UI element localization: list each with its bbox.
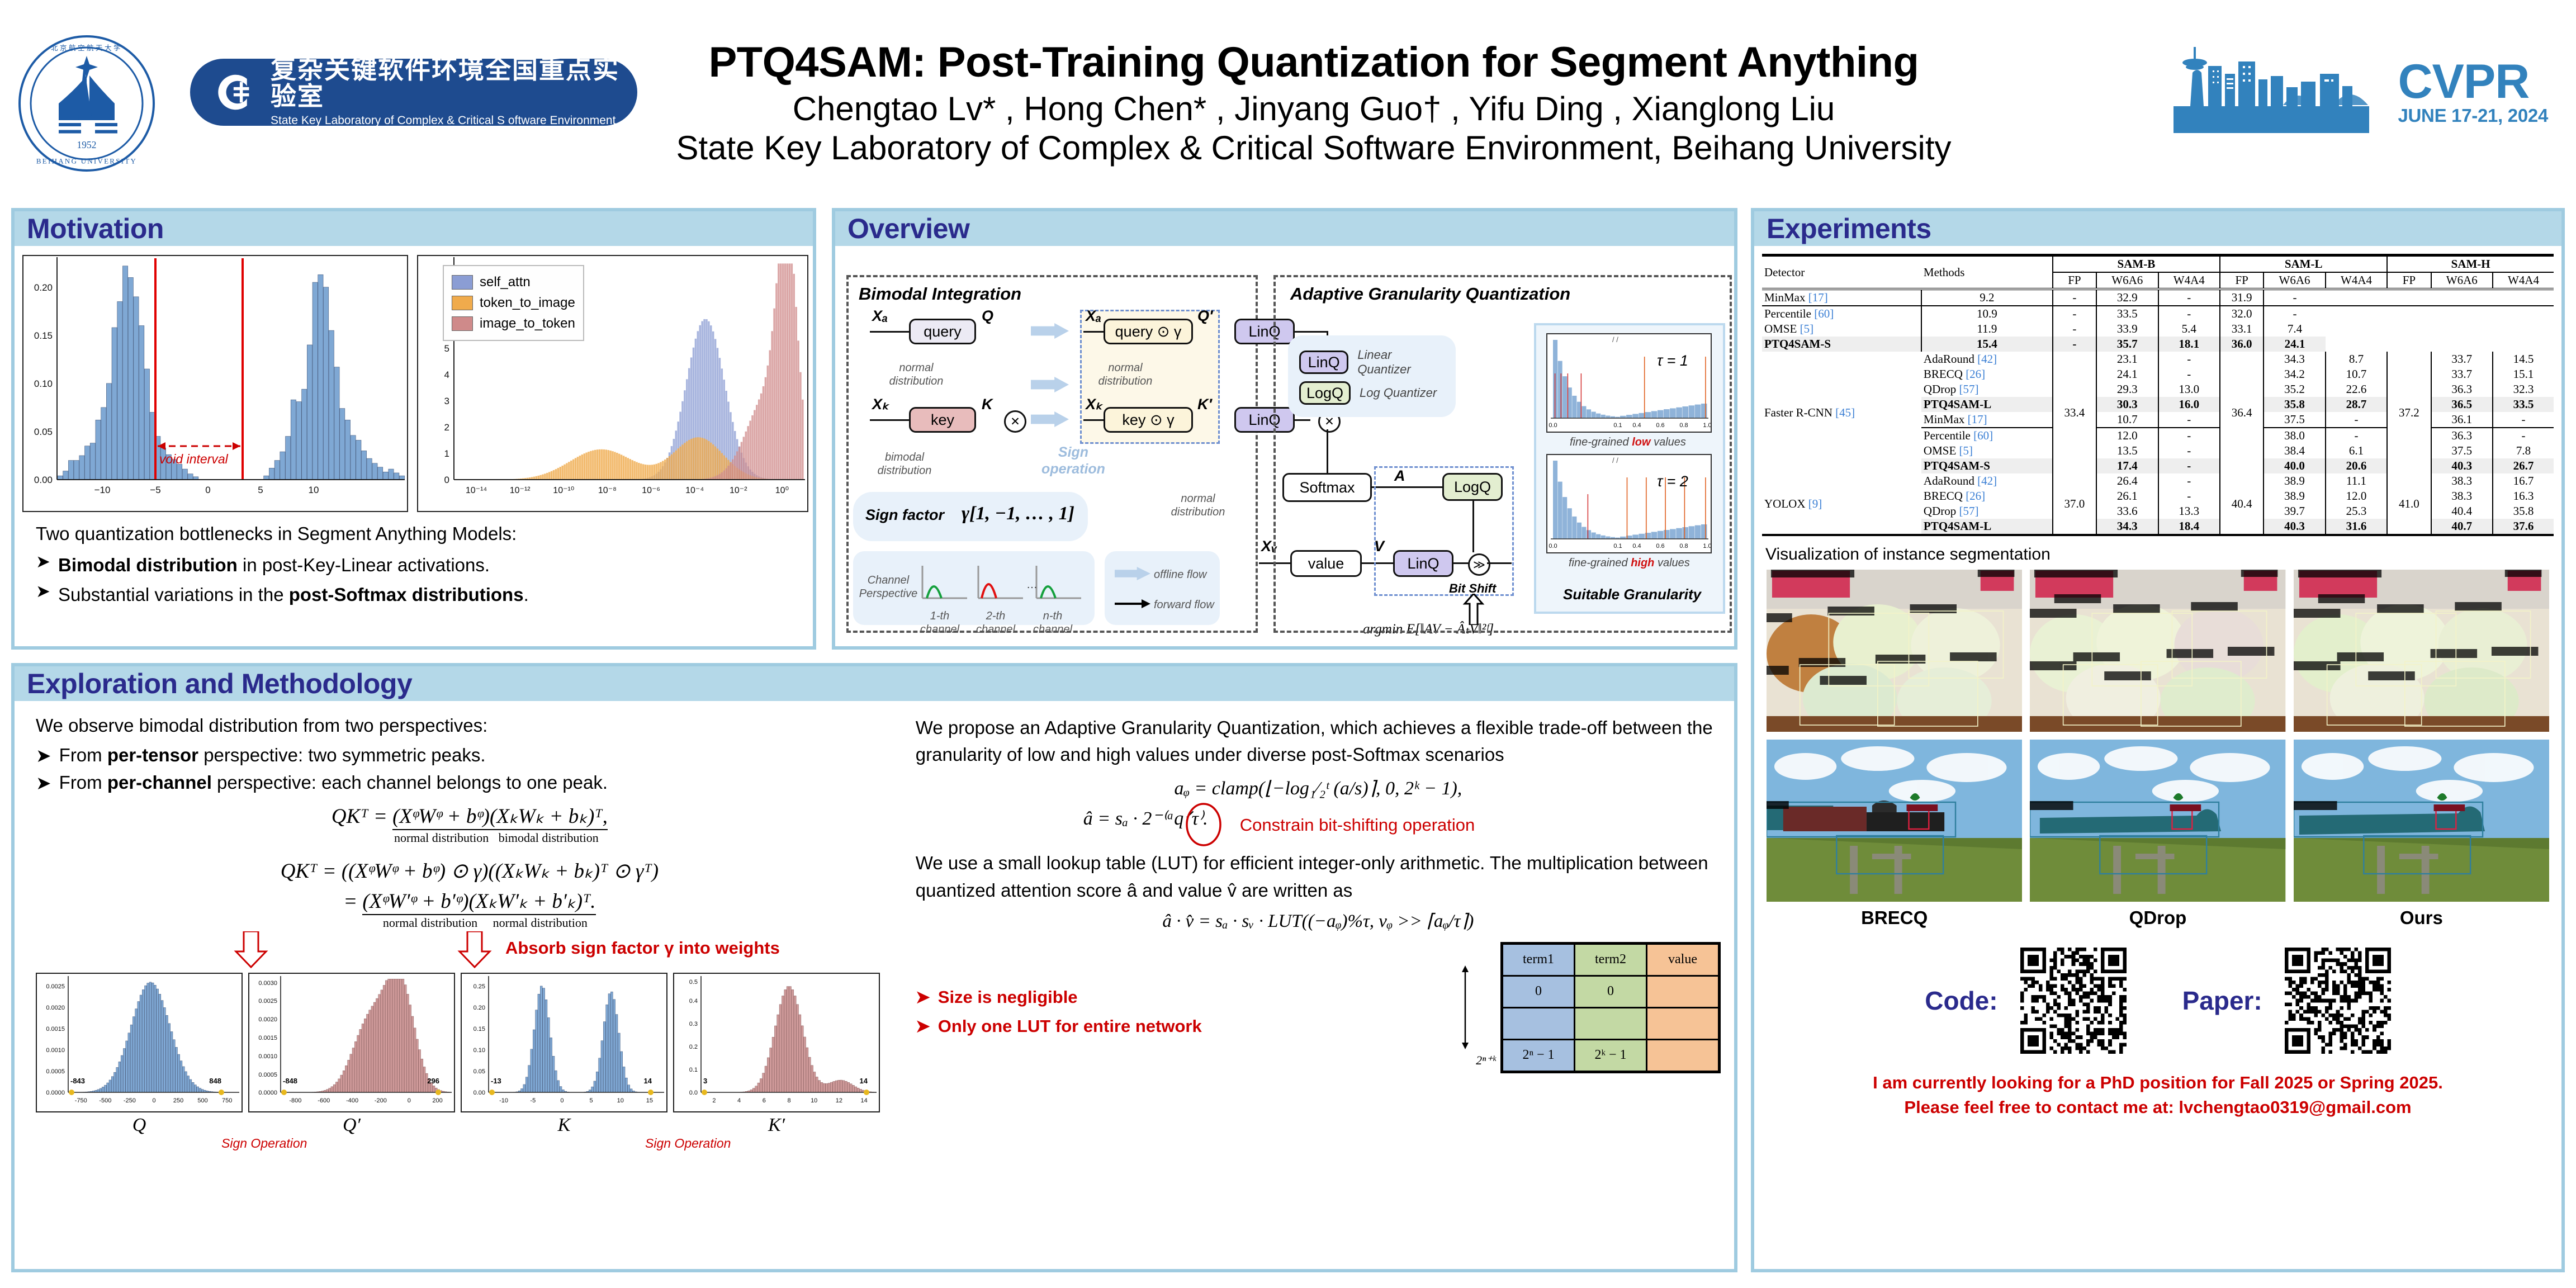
hist-Q-min: -843 (70, 1077, 85, 1085)
eb2-rest: perspective: each channel belongs to one… (212, 772, 608, 793)
svg-text:-500: -500 (99, 1097, 111, 1104)
cell-value: - (2158, 458, 2220, 473)
panel-motivation-header: Motivation (15, 211, 813, 246)
legend-label-token-to-image: token_to_image (480, 292, 575, 313)
cell-fp-SAM-L: 40.4 (2220, 473, 2264, 535)
svg-text:1.0: 1.0 (1703, 543, 1711, 550)
legend-item-logq: LogQ Log Quantizer (1299, 381, 1445, 405)
absorb-sign-factor-note: Absorb sign factor γ into weights (505, 938, 780, 958)
hist-K-min: -13 (491, 1077, 501, 1085)
signal-kprime-label: K′ (1197, 396, 1212, 413)
cell-value: - (2053, 321, 2096, 337)
svg-text:10⁻⁸: 10⁻⁸ (598, 486, 617, 495)
cell-value: 16.3 (2493, 489, 2554, 504)
caption-channel-n: n-th channel (1027, 609, 1078, 636)
eb2-pre: From (59, 772, 107, 793)
chart-granularity-tau2: 0.00.10.40.60.81.0 / / τ = 2 (1546, 454, 1712, 553)
svg-text:0.4: 0.4 (1632, 543, 1641, 550)
contact-line-2: Please feel free to contact me at: lvche… (1762, 1095, 2554, 1120)
cell-value: - (2158, 412, 2220, 428)
cell-value: 16.7 (2493, 473, 2554, 489)
visualization-captions: BRECQ QDrop Ours (1762, 907, 2554, 929)
cell-value: 33.7 (2431, 352, 2493, 367)
caption-fine-grained-high: fine-grained high values (1569, 557, 1690, 570)
viz-image-train-qdrop (2030, 740, 2285, 902)
cell-value: 30.3 (2096, 397, 2158, 412)
hist-caption-Q: Q (36, 1115, 243, 1136)
down-arrow-icon-2 (455, 931, 494, 968)
cell-value: 25.3 (2326, 504, 2388, 519)
bullet-arrow-icon: ➤ (36, 581, 50, 602)
svg-text:0.3: 0.3 (689, 1021, 698, 1027)
svg-text:0: 0 (408, 1097, 411, 1104)
eq2-under2: normal distribution (493, 916, 588, 930)
exploration-left-column: We observe bimodal distribution from two… (22, 707, 908, 1152)
svg-text:0.0010: 0.0010 (258, 1053, 277, 1060)
svg-text:8: 8 (787, 1097, 790, 1104)
svg-text:-250: -250 (124, 1097, 136, 1104)
legend-offline-flow: offline flow (1154, 568, 1221, 581)
cell-value: - (2326, 428, 2388, 443)
cell-value: 10.7 (2096, 412, 2158, 428)
svg-text:0.0015: 0.0015 (258, 1035, 277, 1041)
cell-value: 33.5 (2493, 397, 2554, 412)
qk-histograms-row: 0.00000.0005 0.00100.0015 0.00200.0025 -… (36, 973, 903, 1136)
panel-overview-header: Overview (835, 211, 1734, 246)
cell-value: - (2158, 306, 2220, 321)
bullet-arrow-icon: ➤ (36, 745, 51, 766)
svg-text:0.0000: 0.0000 (258, 1090, 277, 1096)
equation-2-underbrace-labels: normal distribution normal distribution (36, 916, 903, 930)
cell-value: 9.2 (1921, 289, 2053, 306)
hist-Q-max: 848 (209, 1077, 221, 1085)
svg-text:0.0000: 0.0000 (46, 1090, 65, 1096)
signal-k-label: K (982, 396, 993, 413)
svg-text:0.0: 0.0 (689, 1090, 698, 1096)
motivation-bullet-2-text: Substantial variations in the post-Softm… (58, 581, 529, 609)
flow-legend-pill (1105, 551, 1220, 625)
eq2-term1: (XᵠW′ᵠ + b′ᵠ) (362, 890, 468, 915)
svg-text:0: 0 (560, 1097, 563, 1104)
eq2-line-2: = (XᵠW′ᵠ + b′ᵠ)(XₖW′ₖ + b′ₖ)ᵀ. (36, 889, 903, 913)
hist-Kprime-max: 14 (860, 1077, 868, 1085)
eq1-term1: (XᵠWᵠ + bᵠ) (392, 805, 490, 830)
cell-value: 40.4 (2431, 504, 2493, 519)
cell-value: 33.6 (2096, 504, 2158, 519)
cell-fp-SAM-H: 41.0 (2387, 473, 2431, 535)
cell-value: 22.6 (2326, 382, 2388, 397)
signal-xk-label-2: Xₖ (1086, 396, 1102, 413)
cell-detector: Faster R-CNN [45] (1762, 352, 1921, 473)
lut-note-1-row: ➤ Size is negligible (916, 987, 1459, 1007)
svg-text:10: 10 (811, 1097, 817, 1104)
contact-line-1: I am currently looking for a PhD positio… (1762, 1071, 2554, 1095)
cell-method: QDrop [57] (1921, 504, 2053, 519)
svg-text:1952: 1952 (77, 139, 97, 150)
svg-text:10⁻¹²: 10⁻¹² (510, 486, 531, 495)
caption-bimodal-distribution: bimodal distribution (865, 451, 944, 477)
caption-channel-1: 1-th channel (915, 609, 965, 636)
cell-value: 36.5 (2431, 397, 2493, 412)
cell-value: 37.6 (2493, 519, 2554, 535)
panel-motivation: Motivation 0.00 (11, 208, 816, 650)
cvpr-name: CVPR (2398, 59, 2548, 105)
cell-method: AdaRound [42] (1921, 352, 2053, 367)
cell-value: - (2158, 289, 2220, 306)
results-table: Detector Methods SAM-B SAM-L SAM-H FP W6… (1762, 254, 2554, 536)
node-key: key (909, 407, 976, 433)
title-block: PTQ4SAM: Post-Training Quantization for … (643, 39, 1985, 168)
cell-value: - (2493, 412, 2554, 428)
fg-low-b: low (1632, 436, 1650, 448)
svg-text:0.0005: 0.0005 (258, 1072, 277, 1078)
chart-post-key-linear-histogram: 0.00 0.05 0.10 0.15 0.20 −10 −5 0 5 10 v (22, 255, 408, 512)
chart-hist-Qprime: 0.00000.0005 0.00100.0015 0.00200.0025 0… (248, 973, 455, 1112)
cell-value: 10.9 (1921, 306, 2053, 321)
motivation-bullet-1: ➤ Bimodal distribution in post-Key-Linea… (36, 551, 805, 579)
cell-value: 36.0 (2220, 337, 2264, 352)
svg-text:14: 14 (860, 1097, 867, 1104)
cell-value: 7.4 (2264, 321, 2326, 337)
agq-paragraph-2: We use a small lookup table (LUT) for ef… (916, 850, 1721, 903)
panel-motivation-title: Motivation (27, 212, 164, 245)
contact-block: I am currently looking for a PhD positio… (1762, 1071, 2554, 1120)
eq2-lhs: = (343, 890, 357, 913)
svg-text:0.10: 0.10 (473, 1047, 485, 1054)
visualization-grid-row2 (1762, 740, 2554, 902)
cell-value: 38.3 (2431, 489, 2493, 504)
legend-swatch-token-to-image (452, 296, 473, 310)
absorb-note-row: Absorb sign factor γ into weights (36, 930, 903, 969)
cvpr-city-label: SEATTLE, WA (2370, 124, 2485, 143)
caption-channel-perspective: Channel Perspective (858, 574, 919, 600)
svg-text:0.0005: 0.0005 (46, 1068, 65, 1075)
cell-value: 8.7 (2326, 352, 2388, 367)
panel-overview-body: Bimodal Integration Xₐ query Q normal di… (835, 246, 1734, 648)
hist-Qprime-min: -848 (283, 1077, 297, 1085)
motivation-lead: Two quantization bottlenecks in Segment … (36, 520, 805, 548)
lab-name-en: State Key Laboratory of Complex & Critic… (271, 112, 637, 129)
svg-text:0: 0 (444, 475, 449, 485)
cell-value: 14.5 (2493, 352, 2554, 367)
cell-value: - (2158, 443, 2220, 458)
equation-2: QKᵀ = ((XᵠWᵠ + bᵠ) ⊙ γ)((XₖWₖ + bₖ)ᵀ ⊙ γ… (36, 859, 903, 930)
cell-value: - (2158, 352, 2220, 367)
legend-label-self-attn: self_attn (480, 272, 531, 292)
cell-value: 6.1 (2326, 443, 2388, 458)
cell-method: PTQ4SAM-S (1762, 337, 1921, 352)
svg-text:200: 200 (432, 1097, 442, 1104)
sign-operation-label-2: Sign Operation (645, 1136, 731, 1151)
th-methods: Methods (1921, 255, 2053, 290)
lut-note-2-row: ➤ Only one LUT for entire network (916, 1016, 1459, 1036)
cell-value: - (2326, 412, 2388, 428)
motivation-bullet-1-rest: in post-Key-Linear activations. (238, 555, 490, 575)
lut-notes: ➤ Size is negligible ➤ Only one LUT for … (916, 978, 1459, 1036)
legend-logq-desc: Log Quantizer (1360, 386, 1437, 400)
cell-value: - (2053, 306, 2096, 321)
svg-text:-400: -400 (346, 1097, 358, 1104)
cell-value: 32.9 (2096, 289, 2158, 306)
hist-Kprime-min: 3 (703, 1077, 707, 1085)
lut-row: 2ⁿ − 12ᵏ − 1 (1502, 1039, 1720, 1072)
hist-group-K: 0.000.05 0.100.15 0.200.25 -10-5051015 -… (461, 973, 667, 1136)
cell-value: 33.5 (2096, 306, 2158, 321)
sign-factor-vector: γ[1, −1, … , 1] (962, 503, 1074, 524)
cell-method: BRECQ [26] (1921, 489, 2053, 504)
cell-method: QDrop [57] (1921, 382, 2053, 397)
signal-q-label: Q (982, 307, 993, 325)
motivation-bullet-2: ➤ Substantial variations in the post-Sof… (36, 581, 805, 609)
eb2-bold: per-channel (107, 772, 212, 793)
equation-lut: â · v̂ = sₐ · sᵥ · LUT((−aᵩ)%τ, vᵩ >> ⌈a… (916, 910, 1721, 932)
hist-Qprime-max: 296 (427, 1077, 439, 1085)
viz-caption-qdrop: QDrop (2030, 907, 2285, 929)
panel-experiments-header: Experiments (1754, 211, 2561, 246)
cell-value: 11.9 (1921, 321, 2053, 337)
viz-image-donuts-ours (2294, 570, 2549, 732)
svg-text:10⁰: 10⁰ (775, 486, 789, 495)
lut-row (1502, 1007, 1720, 1039)
lut-cell (1502, 1007, 1575, 1039)
svg-text:0.6: 0.6 (1656, 422, 1664, 429)
viz-image-donuts-qdrop (2030, 570, 2285, 732)
cell-value: 11.1 (2326, 473, 2388, 489)
cell-value: 13.0 (2158, 382, 2220, 397)
cvpr-logo: SEATTLE, WA CVPR JUNE 17-21, 2024 (2173, 39, 2554, 145)
th-model-sam-b: SAM-B (2053, 255, 2220, 273)
svg-text:0.6: 0.6 (1656, 543, 1664, 550)
cell-value: - (2264, 289, 2326, 306)
svg-text:10⁻⁶: 10⁻⁶ (642, 486, 660, 495)
panel-exploration-header: Exploration and Methodology (15, 666, 1734, 701)
viz-caption-ours: Ours (2294, 907, 2549, 929)
cell-value: - (2053, 337, 2096, 352)
motivation-bullet-2-bold: post-Softmax distributions (289, 584, 524, 605)
panel-exploration-title: Exploration and Methodology (27, 667, 412, 700)
chart-granularity-tau1: 0.00.10.40.60.81.0 / / τ = 1 (1546, 333, 1712, 433)
lut-row: ➤ Size is negligible ➤ Only one LUT for … (916, 942, 1721, 1073)
eq1-under1: normal distribution (394, 831, 489, 845)
cell-value: 38.3 (2431, 473, 2493, 489)
th-model-sam-h: SAM-H (2387, 255, 2554, 273)
bullet-arrow-icon: ➤ (916, 987, 930, 1007)
exploration-bullet-1: ➤ From per-tensor perspective: two symme… (36, 745, 903, 766)
down-arrow-icon-1 (231, 931, 271, 968)
viz-image-train-brecq (1767, 740, 2022, 902)
cell-value: 12.0 (2096, 428, 2158, 443)
cell-method: Percentile [60] (1921, 428, 2053, 443)
paper-qr-code[interactable] (2285, 948, 2391, 1054)
lut-cell: 2ⁿ − 1 (1502, 1039, 1575, 1072)
cell-fp-SAM-L: 36.4 (2220, 352, 2264, 473)
svg-text:-5: -5 (530, 1097, 536, 1104)
poster-root: 1952 BEIHANG UNIVERSITY 北京航空航天大学 复杂关键软件环… (0, 0, 2576, 1288)
svg-text:10⁻¹⁰: 10⁻¹⁰ (553, 486, 574, 495)
table-row: OMSE [5]11.9-33.95.433.17.4 (1762, 321, 2554, 337)
cell-value: 28.7 (2326, 397, 2388, 412)
th-detector: Detector (1762, 255, 1921, 290)
hist-caption-K: K (461, 1115, 667, 1136)
lut-note-1: Size is negligible (938, 987, 1078, 1007)
tau1-label: τ = 1 (1657, 352, 1688, 370)
sign-factor-label: Sign factor (865, 506, 944, 524)
svg-text:3: 3 (444, 396, 449, 406)
void-interval-label: void interval (159, 452, 228, 467)
cell-value: - (2158, 473, 2220, 489)
lut-table-group: 2ⁿ⁺ᵏ term1term2value002ⁿ − 12ᵏ − 1 (1459, 942, 1721, 1073)
fg-high-a: fine-grained (1569, 557, 1631, 569)
tau2-label: τ = 2 (1657, 473, 1688, 490)
signal-xk-label: Xₖ (872, 396, 889, 413)
motivation-charts: 0.00 0.05 0.10 0.15 0.20 −10 −5 0 5 10 v (22, 255, 805, 512)
cell-value: 26.1 (2096, 489, 2158, 504)
eq2-term2: (XₖW′ₖ + b′ₖ)ᵀ. (469, 890, 596, 915)
node-query: query (909, 319, 976, 344)
lut-row: 00 (1502, 976, 1720, 1007)
motivation-text: Two quantization bottlenecks in Segment … (22, 520, 805, 609)
th-bits-h-fp: FP (2387, 272, 2431, 289)
svg-text:10: 10 (309, 485, 319, 495)
cell-value: 13.5 (2096, 443, 2158, 458)
cell-value: 7.8 (2493, 443, 2554, 458)
arrow-xk2-to-key-gamma (1083, 419, 1106, 421)
cell-value: - (2158, 367, 2220, 382)
svg-text:5: 5 (590, 1097, 593, 1104)
cell-value: - (2158, 428, 2220, 443)
author-list: Chengtao Lv* , Hong Chen* , Jinyang Guo†… (643, 89, 1985, 129)
hist-group-Q: 0.00000.0005 0.00100.0015 0.00200.0025 -… (36, 973, 243, 1136)
svg-text:2: 2 (712, 1097, 716, 1104)
th-bits-h-w6a6: W6A6 (2431, 272, 2493, 289)
code-qr-code[interactable] (2020, 948, 2127, 1054)
exploration-lead: We observe bimodal distribution from two… (36, 712, 903, 739)
bullet-arrow-icon: ➤ (36, 551, 50, 572)
svg-text:0.15: 0.15 (34, 330, 53, 341)
panel-overview: Overview Bimodal Integration Xₐ query Q … (832, 208, 1737, 650)
panel-experiments-title: Experiments (1767, 212, 1931, 245)
lut-cell (1647, 1007, 1720, 1039)
cell-value: 40.7 (2431, 519, 2493, 535)
paper-label: Paper: (2182, 986, 2262, 1016)
legend-item-token-to-image: token_to_image (452, 292, 575, 313)
cell-value: 36.3 (2431, 382, 2493, 397)
motivation-bullet-1-text: Bimodal distribution in post-Key-Linear … (58, 551, 490, 579)
fg-low-c: values (1651, 436, 1686, 448)
svg-text:0.0020: 0.0020 (258, 1016, 277, 1023)
svg-text:0.5: 0.5 (689, 979, 698, 986)
th-bits-b-w4a4: W4A4 (2158, 272, 2220, 289)
th-bits-b-fp: FP (2053, 272, 2096, 289)
buaa-university-logo-icon: 1952 BEIHANG UNIVERSITY 北京航空航天大学 (17, 34, 157, 173)
affiliation: State Key Laboratory of Complex & Critic… (643, 129, 1985, 168)
hist-group-Qprime: 0.00000.0005 0.00100.0015 0.00200.0025 0… (248, 973, 455, 1136)
svg-text:12: 12 (836, 1097, 842, 1104)
svg-text:2: 2 (444, 422, 449, 433)
arrow-xq-to-query (870, 331, 910, 333)
panel-experiments: Experiments Detector Methods SAM-B SAM-L… (1751, 208, 2565, 1272)
eb1-rest: perspective: two symmetric peaks. (198, 745, 486, 765)
lut-cell: 2ᵏ − 1 (1575, 1039, 1647, 1072)
cell-value: - (2158, 489, 2220, 504)
cell-value: 38.0 (2264, 428, 2326, 443)
cell-value: 20.6 (2326, 458, 2388, 473)
legend-forward-flow: forward flow (1154, 598, 1221, 612)
cell-value: 38.9 (2264, 473, 2326, 489)
cell-method: MinMax [17] (1762, 289, 1921, 306)
svg-text:10⁻⁴: 10⁻⁴ (685, 486, 704, 495)
exploration-right-column: We propose an Adaptive Granularity Quant… (908, 707, 1726, 1152)
svg-text:0.0015: 0.0015 (46, 1026, 65, 1033)
table-row: YOLOX [9]AdaRound [42]37.026.4-40.438.91… (1762, 473, 2554, 489)
svg-text:0.20: 0.20 (473, 1005, 485, 1011)
svg-text:0.0025: 0.0025 (46, 983, 65, 990)
svg-text:/ /: / / (1612, 335, 1618, 344)
lut-header-term2: term2 (1575, 943, 1647, 976)
eq1-term2: (XₖWₖ + bₖ)ᵀ, (490, 805, 608, 830)
cell-value: 36.1 (2431, 412, 2493, 428)
svg-text:0.0020: 0.0020 (46, 1005, 65, 1011)
results-table-body: MinMax [17]9.2-32.9-31.9-Percentile [60]… (1762, 289, 2554, 535)
svg-text:0.1: 0.1 (1613, 422, 1622, 429)
equation-aq: aᵩ = clamp(⌊−log₁⁄₂ᵗ (a/s)⌉, 0, 2ᵏ − 1), (916, 777, 1721, 799)
cell-value: 15.1 (2493, 367, 2554, 382)
svg-text:0.8: 0.8 (1679, 422, 1688, 429)
motivation-bullet-1-bold: Bimodal distribution (58, 555, 238, 575)
suitable-granularity-label: Suitable Granularity (1563, 586, 1701, 603)
svg-text:6: 6 (763, 1097, 766, 1104)
cell-value: 34.2 (2264, 367, 2326, 382)
lut-table: term1term2value002ⁿ − 12ᵏ − 1 (1500, 942, 1721, 1073)
cell-value: 12.0 (2326, 489, 2388, 504)
lab-name-cn: 复杂关键软件环境全国重点实验室 (271, 56, 637, 110)
cell-value: 15.4 (1921, 337, 2053, 352)
cell-value: 32.0 (2220, 306, 2264, 321)
svg-text:-750: -750 (75, 1097, 87, 1104)
svg-text:-800: -800 (289, 1097, 301, 1104)
cell-value: 37.5 (2264, 412, 2326, 428)
eq1-under2: bimodal distribution (499, 831, 599, 845)
forward-flow-icon (1115, 598, 1152, 609)
cell-method: PTQ4SAM-S (1921, 458, 2053, 473)
lut-size-label: 2ⁿ⁺ᵏ (1476, 1053, 1496, 1068)
cell-value: 13.3 (2158, 504, 2220, 519)
exploration-bullet-1-text: From per-tensor perspective: two symmetr… (59, 745, 486, 766)
qr-row: Code: Paper: (1762, 948, 2554, 1054)
cvpr-date: JUNE 17-21, 2024 (2398, 105, 2548, 126)
table-row: PTQ4SAM-S15.4-35.718.136.024.1 (1762, 337, 2554, 352)
equation-ahat-row: â = sₐ · 2⁻⁽ᵃqᐟτ⁾. Constrain bit-shiftin… (916, 803, 1721, 850)
cell-value: 40.3 (2431, 458, 2493, 473)
svg-text:/ /: / / (1612, 456, 1618, 465)
cell-value: - (2264, 306, 2326, 321)
bimodal-integration-title: Bimodal Integration (859, 284, 1021, 304)
hist-K-max: 14 (644, 1077, 652, 1085)
quantizer-legend: LinQ Linear Quantizer LogQ Log Quantizer (1288, 335, 1456, 417)
bullet-arrow-icon: ➤ (36, 772, 51, 794)
svg-text:-200: -200 (375, 1097, 387, 1104)
caption-channel-2: 2-th channel (970, 609, 1021, 636)
cell-value: 37.5 (2431, 443, 2493, 458)
exploration-bullet-2-text: From per-channel perspective: each chann… (59, 772, 608, 794)
svg-text:0.15: 0.15 (473, 1026, 485, 1033)
cell-method: OMSE [5] (1762, 321, 1921, 337)
signal-xq-label: Xₐ (872, 307, 888, 325)
constrain-note: Constrain bit-shifting operation (1240, 815, 1475, 835)
panel-experiments-body: Detector Methods SAM-B SAM-L SAM-H FP W6… (1754, 246, 2561, 1125)
cell-fp-SAM-B: 37.0 (2053, 473, 2096, 535)
svg-text:0.10: 0.10 (34, 378, 53, 389)
